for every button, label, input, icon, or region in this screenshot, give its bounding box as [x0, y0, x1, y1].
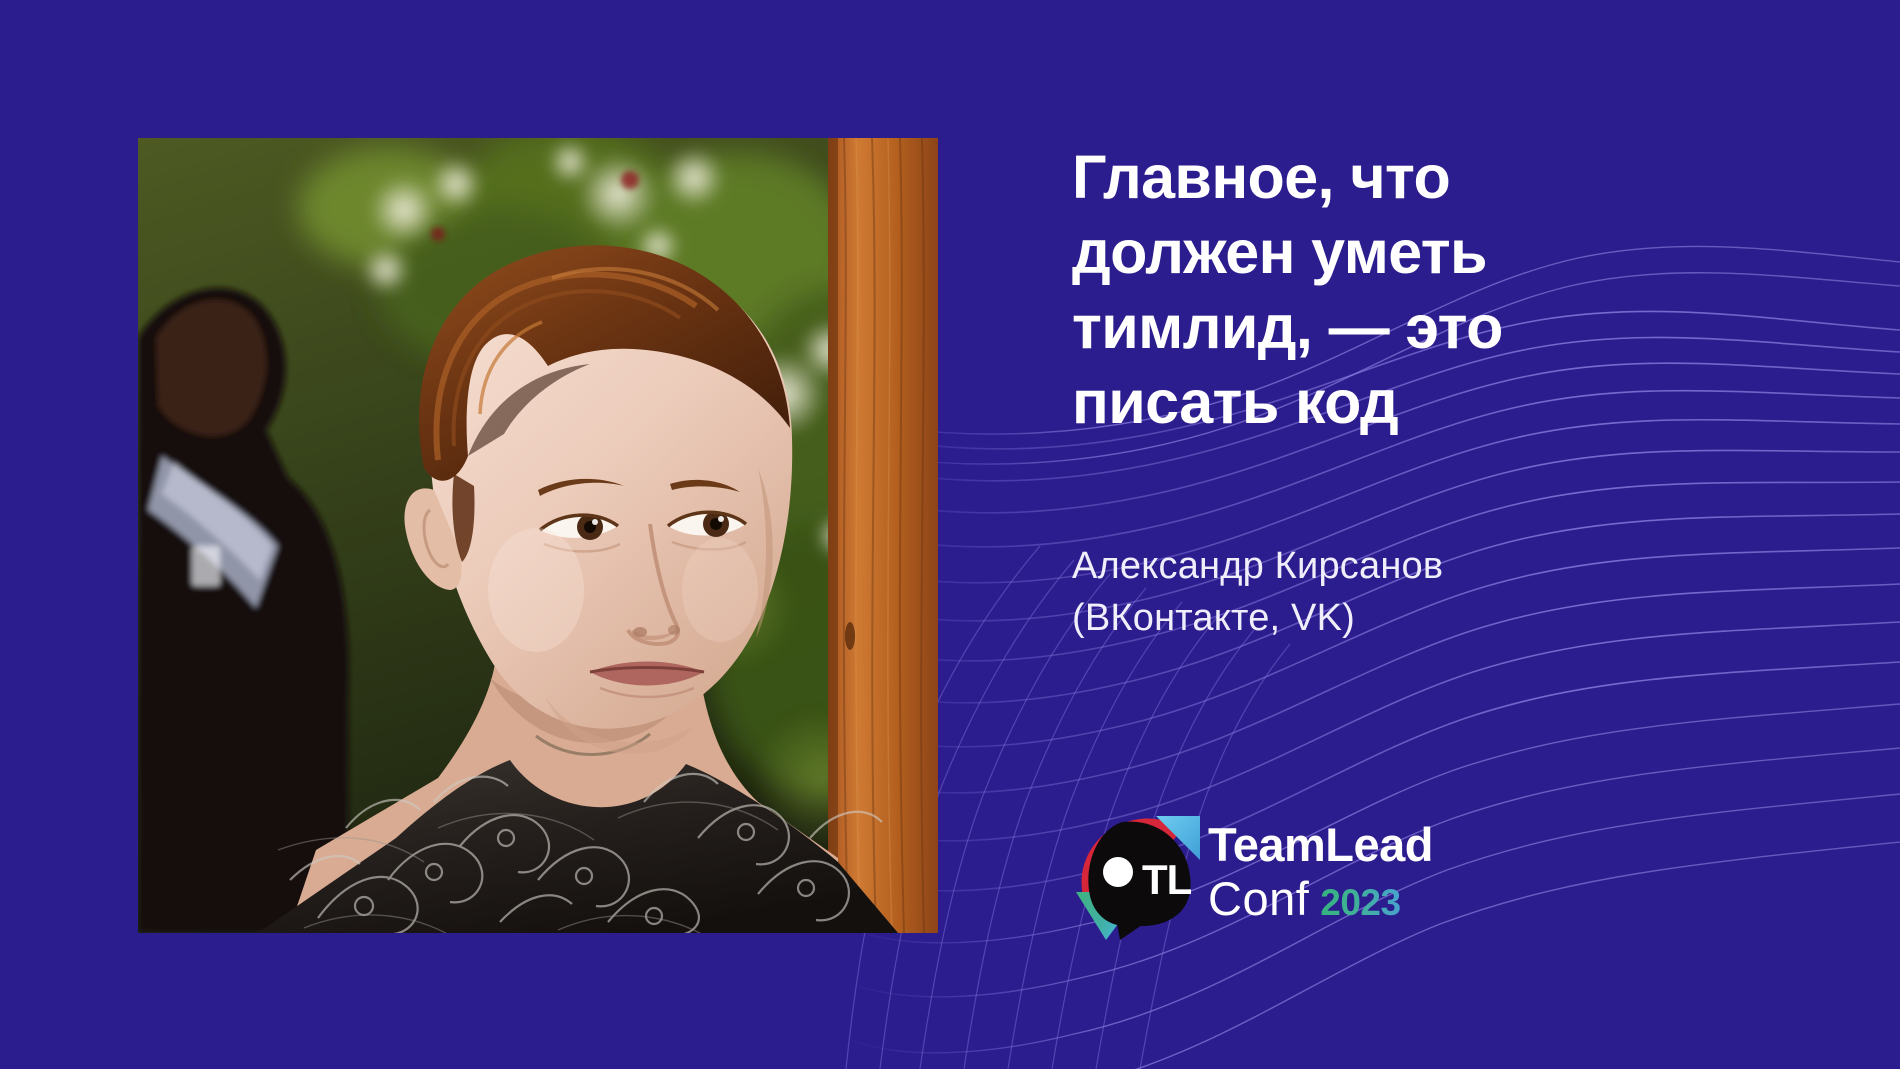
teamleadconf-logo[interactable]: TL TeamLead Conf 2023 [1072, 812, 1492, 952]
speaker-info: Александр Кирсанов (ВКонтакте, VK) [1072, 540, 1712, 644]
logo-conf-year-line: Conf 2023 [1208, 872, 1401, 928]
speaker-organization: (ВКонтакте, VK) [1072, 592, 1712, 644]
content-column: Главное, что должен уметь тимлид, — это … [1072, 0, 1772, 1069]
teamleadconf-wordmark: TeamLead Conf 2023 [1208, 818, 1488, 938]
speaker-photo [138, 138, 938, 933]
teamleadconf-logo-mark: TL [1072, 814, 1200, 942]
logo-conf-text: Conf [1208, 872, 1309, 926]
logo-year-text: 2023 [1320, 876, 1400, 930]
slide-canvas: Главное, что должен уметь тимлид, — это … [0, 0, 1900, 1069]
speaker-name: Александр Кирсанов [1072, 540, 1712, 592]
talk-title: Главное, что должен уметь тимлид, — это … [1072, 140, 1692, 440]
logo-teamlead-text: TeamLead [1208, 818, 1433, 872]
svg-text:TL: TL [1142, 856, 1192, 903]
